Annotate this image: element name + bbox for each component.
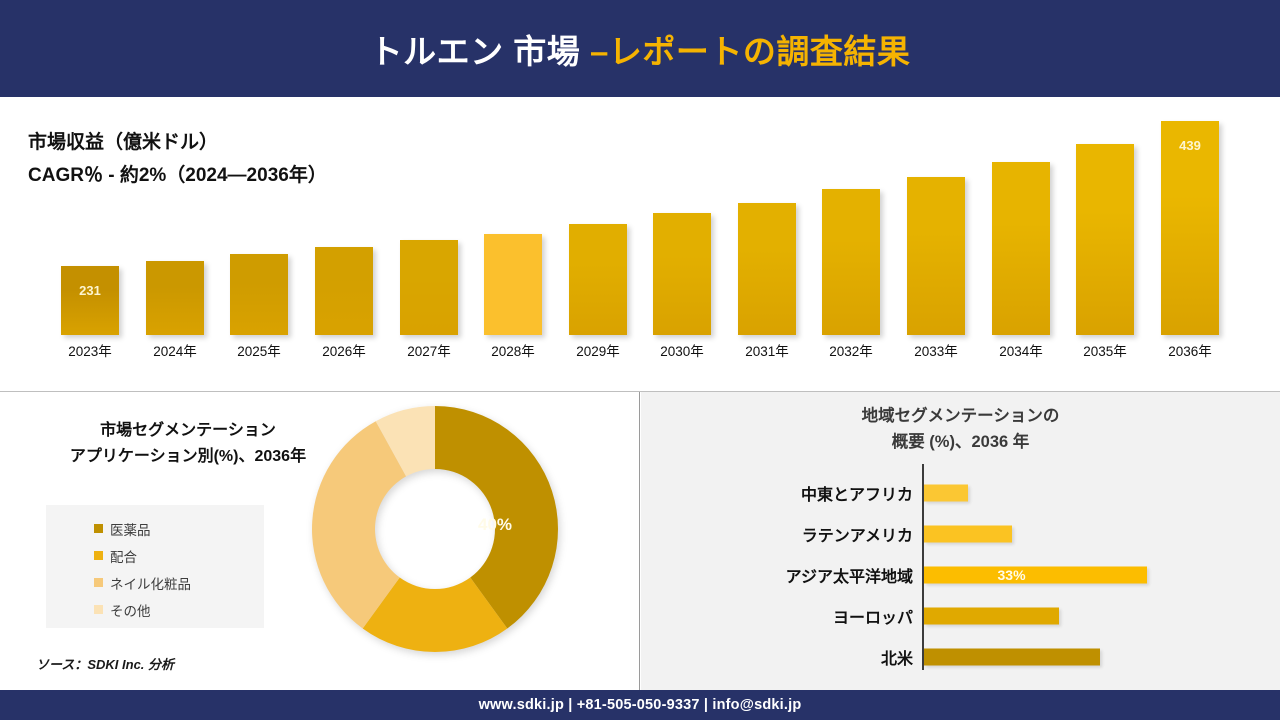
revenue-bar-plot-area: 231439 — [48, 117, 1232, 335]
region-label-中東とアフリカ: 中東とアフリカ — [641, 481, 913, 505]
revenue-xaxis-label-2026年: 2026年 — [307, 340, 381, 360]
donut-legend-label: ネイル化粧品 — [110, 573, 191, 593]
donut-legend-label: 医薬品 — [110, 519, 151, 539]
donut-legend-label: その他 — [110, 600, 151, 620]
donut-chart-title: 市場セグメンテーション アプリケーション別(%)、2036年 — [38, 418, 338, 469]
revenue-bar-rect — [738, 203, 796, 335]
region-row-アジア太平洋地域: アジア太平洋地域33% — [641, 554, 1280, 595]
revenue-xaxis-label-2036年: 2036年 — [1153, 340, 1227, 360]
region-bar-rect — [924, 566, 1147, 583]
revenue-bar-rect — [907, 177, 965, 335]
revenue-xaxis-label-2028年: 2028年 — [476, 340, 550, 360]
region-bar-rect — [924, 607, 1059, 624]
revenue-bar-rect — [1076, 144, 1134, 335]
donut-title-line1: 市場セグメンテーション — [38, 418, 338, 444]
region-bar-plot-area: 中東とアフリカラテンアメリカアジア太平洋地域33%ヨーロッパ北米 — [641, 464, 1280, 680]
revenue-bar-rect — [61, 266, 119, 335]
region-row-ラテンアメリカ: ラテンアメリカ — [641, 513, 1280, 554]
regional-segmentation-panel: 地域セグメンテーションの 概要 (%)、2036 年 中東とアフリカラテンアメリ… — [641, 392, 1280, 690]
footer-bar: www.sdki.jp | +81-505-050-9337 | info@sd… — [0, 690, 1280, 720]
region-bar-rect — [924, 484, 968, 501]
revenue-bar-rect — [230, 254, 288, 335]
donut-title-line2: アプリケーション別(%)、2036年 — [38, 444, 338, 470]
legend-swatch-icon — [94, 605, 103, 614]
revenue-bar-rect — [400, 240, 458, 335]
revenue-bar-rect — [146, 261, 204, 335]
region-bar-rect — [924, 648, 1100, 665]
region-row-ヨーロッパ: ヨーロッパ — [641, 595, 1280, 636]
source-note: ソース：SDKI Inc. 分析 — [36, 654, 174, 673]
revenue-xaxis-label-2033年: 2033年 — [899, 340, 973, 360]
donut-legend-label: 配合 — [110, 546, 137, 566]
revenue-xaxis-label-2030年: 2030年 — [645, 340, 719, 360]
revenue-bar-rect — [653, 213, 711, 335]
region-label-ヨーロッパ: ヨーロッパ — [641, 604, 913, 628]
revenue-xaxis-label-2034年: 2034年 — [984, 340, 1058, 360]
page-title-accent: –レポートの調査結果 — [590, 33, 910, 70]
header-bar: トルエン 市場 –レポートの調査結果 — [0, 0, 1280, 97]
legend-swatch-icon — [94, 578, 103, 587]
legend-swatch-icon — [94, 551, 103, 560]
region-title-line1: 地域セグメンテーションの — [641, 404, 1280, 430]
donut-primary-value-label: 40% — [478, 515, 512, 535]
revenue-xaxis-label-2029年: 2029年 — [561, 340, 635, 360]
page-title-main: トルエン 市場 — [370, 33, 590, 70]
revenue-xaxis-label-2031年: 2031年 — [730, 340, 804, 360]
revenue-bar-chart-panel: 市場収益（億米ドル） CAGR％ - 約2%（2024―2036年） 23143… — [0, 97, 1280, 392]
revenue-bar-rect — [1161, 121, 1219, 335]
revenue-bar-value-label: 231 — [61, 283, 119, 298]
region-row-中東とアフリカ: 中東とアフリカ — [641, 472, 1280, 513]
donut-legend-item-3[interactable]: その他 — [46, 596, 264, 623]
region-label-北米: 北米 — [641, 645, 913, 669]
region-chart-title: 地域セグメンテーションの 概要 (%)、2036 年 — [641, 404, 1280, 455]
region-label-ラテンアメリカ: ラテンアメリカ — [641, 522, 913, 546]
revenue-bar-rect — [315, 247, 373, 335]
revenue-xaxis-label-2027年: 2027年 — [392, 340, 466, 360]
region-row-北米: 北米 — [641, 636, 1280, 677]
revenue-xaxis-label-2025年: 2025年 — [222, 340, 296, 360]
region-title-line2: 概要 (%)、2036 年 — [641, 430, 1280, 456]
region-label-アジア太平洋地域: アジア太平洋地域 — [641, 563, 913, 587]
legend-swatch-icon — [94, 524, 103, 533]
donut-chart: 40% — [310, 404, 560, 654]
revenue-bar-rect — [992, 162, 1050, 335]
footer-contact-text: www.sdki.jp | +81-505-050-9337 | info@sd… — [479, 697, 802, 713]
donut-legend-item-0[interactable]: 医薬品 — [46, 515, 264, 542]
donut-legend-item-2[interactable]: ネイル化粧品 — [46, 569, 264, 596]
region-bar-value-label: 33% — [998, 567, 1026, 583]
revenue-xaxis-label-2023年: 2023年 — [53, 340, 127, 360]
revenue-bar-rect — [822, 189, 880, 335]
revenue-xaxis-label-2024年: 2024年 — [138, 340, 212, 360]
revenue-xaxis-label-2035年: 2035年 — [1068, 340, 1142, 360]
revenue-bar-rect — [569, 224, 627, 335]
region-bar-rect — [924, 525, 1012, 542]
revenue-bar-rect — [484, 234, 542, 335]
page-title: トルエン 市場 –レポートの調査結果 — [370, 25, 911, 73]
donut-legend-item-1[interactable]: 配合 — [46, 542, 264, 569]
application-segmentation-panel: 市場セグメンテーション アプリケーション別(%)、2036年 医薬品配合ネイル化… — [0, 392, 640, 690]
revenue-xaxis-label-2032年: 2032年 — [814, 340, 888, 360]
donut-legend: 医薬品配合ネイル化粧品その他 — [46, 505, 264, 628]
donut-chart-svg — [310, 404, 560, 654]
revenue-bar-value-label: 439 — [1161, 138, 1219, 153]
revenue-bar-xaxis-labels: 2023年2024年2025年2026年2027年2028年2029年2030年… — [48, 340, 1232, 364]
infographic-page: トルエン 市場 –レポートの調査結果 市場収益（億米ドル） CAGR％ - 約2… — [0, 0, 1280, 720]
